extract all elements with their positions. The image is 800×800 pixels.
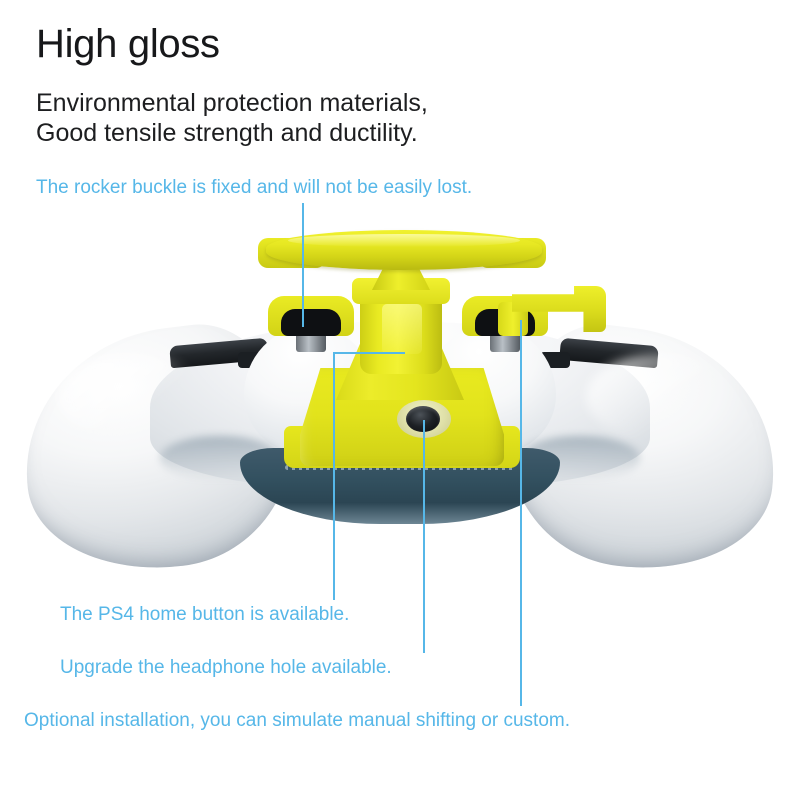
leader-line-rocker-buckle	[302, 203, 304, 327]
rocker-buckle-clip-left	[268, 296, 354, 336]
page-title: High gloss	[36, 22, 220, 67]
steering-wheel-top-plate	[266, 230, 542, 270]
subtitle-block: Environmental protection materials, Good…	[36, 88, 428, 148]
caption-rocker-buckle: The rocker buckle is fixed and will not …	[36, 177, 472, 199]
caption-home-button: The PS4 home button is available.	[60, 604, 349, 626]
subtitle-line-2: Good tensile strength and ductility.	[36, 118, 428, 148]
product-photo	[0, 230, 800, 570]
subtitle-line-1: Environmental protection materials,	[36, 88, 428, 118]
product-feature-graphic: High gloss Environmental protection mate…	[0, 0, 800, 800]
leader-line-home-button-horizontal	[333, 352, 405, 354]
leader-line-shifter	[520, 320, 522, 706]
leader-line-headphone	[423, 420, 425, 653]
caption-shifter: Optional installation, you can simulate …	[24, 710, 570, 732]
caption-headphone-hole: Upgrade the headphone hole available.	[60, 657, 392, 679]
leader-line-home-button-vertical	[333, 352, 335, 600]
